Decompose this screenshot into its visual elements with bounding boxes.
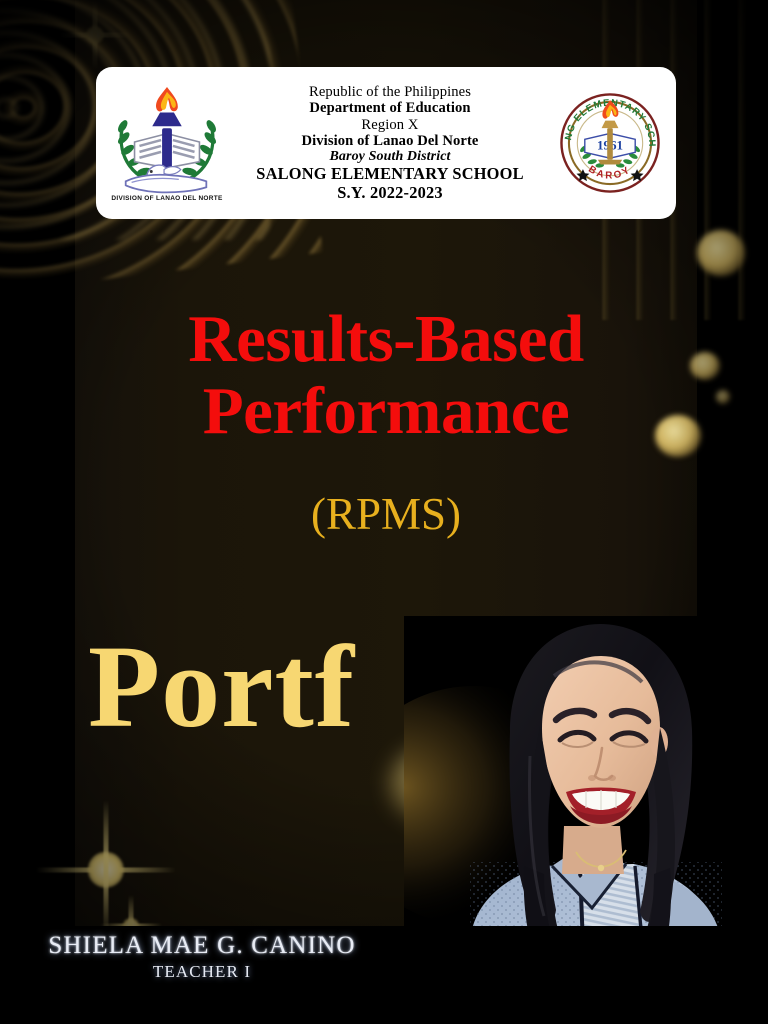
header-line-deped: Department of Education [230,100,550,116]
title-acronym: (RPMS) [75,492,697,537]
header-line-republic: Republic of the Philippines [230,84,550,100]
portfolio-cover-page: DIVISION OF LANAO DEL NORTE Republic of … [0,0,768,1024]
page-title: Results-Based Performance [75,304,697,447]
header-line-school: SALONG ELEMENTARY SCHOOL [230,165,550,183]
header-text-block: Republic of the Philippines Department o… [226,84,554,202]
school-header-card: DIVISION OF LANAO DEL NORTE Republic of … [96,67,676,219]
salong-elementary-school-seal-icon: SALONG ELEMENTARY SCHOOL BAROY [554,87,666,199]
header-line-district: Baroy South District [230,149,550,165]
bokeh-orb-icon [716,390,730,404]
bokeh-orb-icon [697,230,745,276]
teacher-role: TEACHER I [0,962,404,982]
header-line-region: Region X [230,117,550,133]
teacher-name: SHIELA MAE G. CANINO [0,932,404,960]
title-line-1: Results-Based [75,304,697,376]
deped-division-seal-icon: DIVISION OF LANAO DEL NORTE [108,83,226,203]
header-line-division: Division of Lanao Del Norte [230,133,550,149]
title-line-2: Performance [75,376,697,448]
svg-text:DIVISION OF LANAO DEL NORTE: DIVISION OF LANAO DEL NORTE [111,195,223,202]
header-line-school-year: S.Y. 2022-2023 [230,184,550,202]
footer-identity-block: SHIELA MAE G. CANINO TEACHER I [0,932,404,982]
